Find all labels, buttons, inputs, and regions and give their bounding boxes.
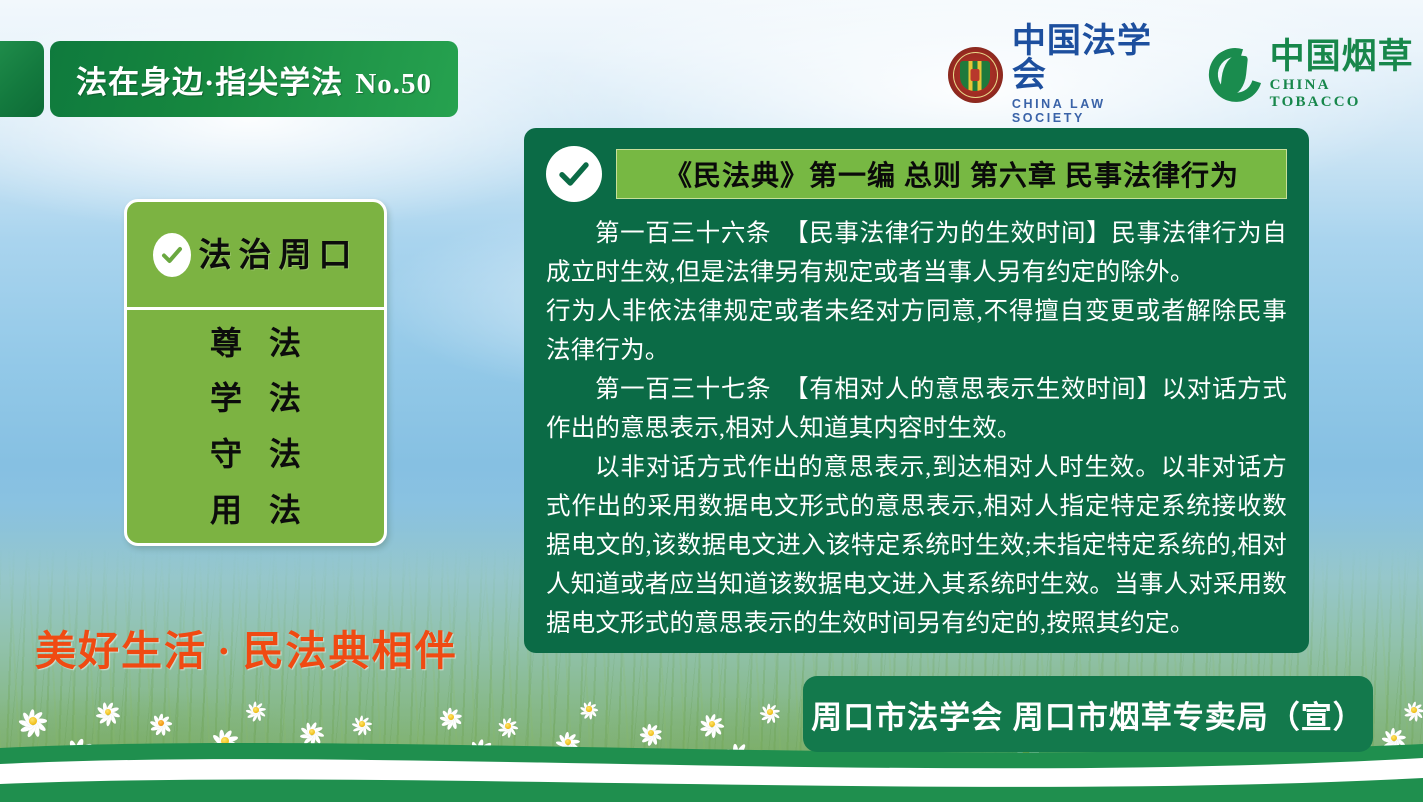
daisy-flower <box>1404 700 1423 720</box>
header-title-cn: 法在身边·指尖学法 <box>76 65 343 100</box>
footer-banner: 周口市法学会 周口市烟草专卖局（宣） <box>803 676 1373 752</box>
main-content-panel: 《民法典》第一编 总则 第六章 民事法律行为 第一百三十六条 【民事法律行为的生… <box>524 128 1309 653</box>
law-society-name-cn: 中国法学会 <box>1012 25 1183 93</box>
daisy-flower <box>96 700 120 724</box>
left-card-line: 守 法 <box>201 430 310 480</box>
tobacco-name-en: CHINA TOBACCO <box>1270 77 1423 111</box>
panel-header: 《民法典》第一编 总则 第六章 民事法律行为 <box>546 146 1287 202</box>
slogan-right: 民法典相伴 <box>243 628 458 674</box>
daisy-flower <box>440 706 462 728</box>
law-paragraph: 以非对话方式作出的意思表示,到达相对人时生效。以非对话方式作出的采用数据电文形式… <box>546 448 1287 643</box>
logo-china-tobacco: 中国烟草 CHINA TOBACCO <box>1209 39 1423 111</box>
logo-china-law-society: 中国法学会 CHINA LAW SOCIETY <box>948 25 1183 125</box>
check-mark-icon <box>546 146 602 202</box>
law-paragraph: 第一百三十七条 【有相对人的意思表示生效时间】以对话方式作出的意思表示,相对人知… <box>546 370 1287 448</box>
slogan-text: 美好生活·民法典相伴 <box>35 617 458 677</box>
header-issue-number: No.50 <box>355 68 432 100</box>
left-card-line: 尊 法 <box>201 319 310 369</box>
panel-body-text: 第一百三十六条 【民事法律行为的生效时间】民事法律行为自成立时生效,但是法律另有… <box>546 214 1287 643</box>
law-society-emblem-icon <box>948 47 1003 103</box>
check-mark-icon <box>153 233 191 277</box>
left-slogan-card: 法治周口 尊 法 学 法 守 法 用 法 <box>124 199 387 546</box>
slogan-left: 美好生活 <box>35 628 207 674</box>
daisy-flower <box>760 702 780 722</box>
chapter-title: 《民法典》第一编 总则 第六章 民事法律行为 <box>616 149 1287 199</box>
tobacco-leaf-icon <box>1209 48 1262 102</box>
logo-group: 中国法学会 CHINA LAW SOCIETY 中国烟草 CHINA TOBAC… <box>948 36 1423 114</box>
left-card-line: 学 法 <box>201 374 310 424</box>
law-paragraph: 第一百三十六条 【民事法律行为的生效时间】民事法律行为自成立时生效,但是法律另有… <box>546 214 1287 292</box>
left-card-header: 法治周口 <box>127 202 384 310</box>
left-card-title: 法治周口 <box>199 238 359 271</box>
header-title-text: 法在身边·指尖学法No.50 <box>76 57 432 102</box>
daisy-flower <box>580 700 598 718</box>
left-card-body: 尊 法 学 法 守 法 用 法 <box>127 310 384 542</box>
left-card-line: 用 法 <box>201 486 310 536</box>
corner-accent-block <box>0 41 44 117</box>
slogan-separator: · <box>217 628 233 674</box>
law-paragraph: 行为人非依法律规定或者未经对方同意,不得擅自变更或者解除民事法律行为。 <box>546 292 1287 370</box>
footer-banner-text: 周口市法学会 周口市烟草专卖局（宣） <box>811 692 1365 737</box>
header-title-pill: 法在身边·指尖学法No.50 <box>50 41 458 117</box>
law-society-name-en: CHINA LAW SOCIETY <box>1012 97 1183 125</box>
tobacco-name-cn: 中国烟草 <box>1270 39 1423 74</box>
daisy-flower <box>246 700 266 720</box>
poster-root: 法在身边·指尖学法No.50 中国法学会 CHINA LAW SOCIETY 中… <box>0 0 1423 802</box>
